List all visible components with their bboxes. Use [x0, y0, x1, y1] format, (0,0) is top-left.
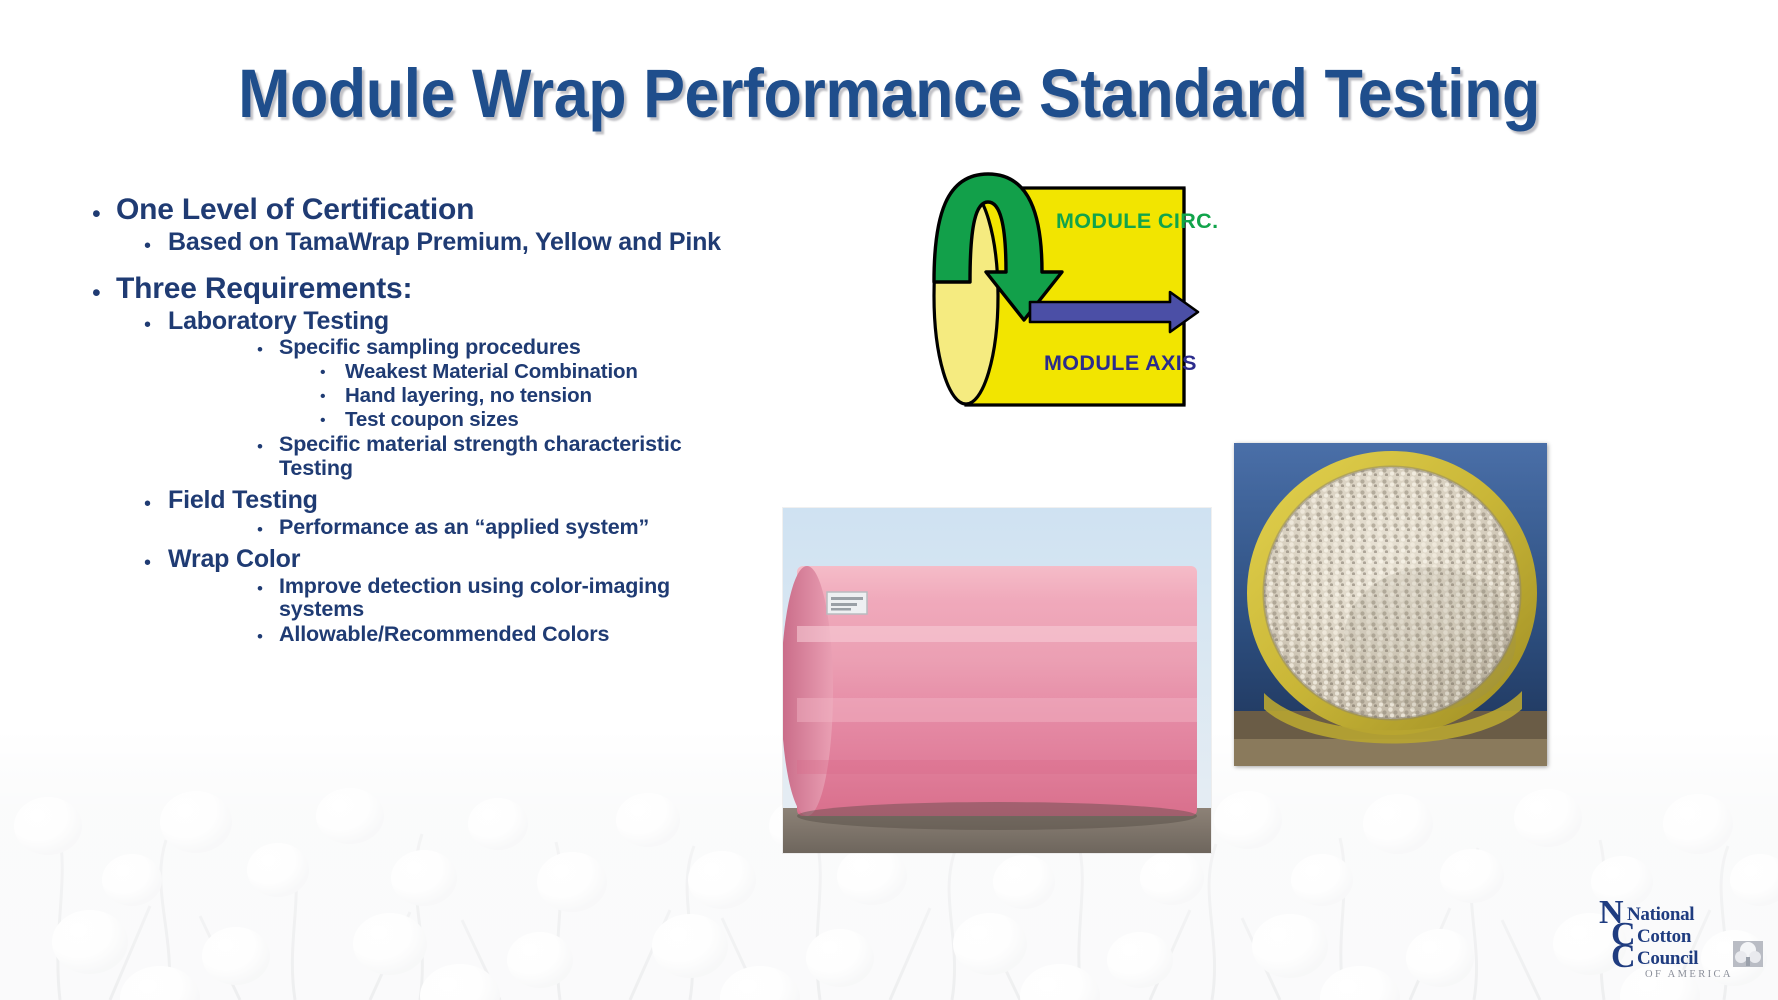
- list-item-label: Specific material strength characteristi…: [279, 433, 752, 480]
- bullet-list: • One Level of Certification • Based on …: [92, 193, 752, 648]
- list-item: • Field Testing: [144, 487, 752, 515]
- list-item-label: Field Testing: [168, 487, 318, 515]
- bullet-dot-icon: •: [257, 516, 279, 538]
- module-axis-label: MODULE AXIS: [1044, 351, 1197, 375]
- logo-line-2: Cotton: [1637, 926, 1692, 947]
- list-item-label: Performance as an “applied system”: [279, 516, 649, 540]
- list-item-label: Three Requirements:: [116, 272, 412, 306]
- list-item: • Three Requirements:: [92, 272, 752, 306]
- bullet-dot-icon: •: [320, 385, 345, 405]
- bullet-dot-icon: •: [144, 546, 168, 573]
- list-item: • Based on TamaWrap Premium, Yellow and …: [144, 229, 752, 257]
- list-item-label: Hand layering, no tension: [345, 385, 592, 408]
- list-item: • Specific material strength characteris…: [257, 433, 752, 480]
- list-item-label: Allowable/Recommended Colors: [279, 623, 609, 647]
- bullet-dot-icon: •: [257, 623, 279, 645]
- logo-line-3: Council: [1637, 948, 1698, 969]
- list-item: • Wrap Color: [144, 546, 752, 574]
- bullet-dot-icon: •: [320, 361, 345, 381]
- logo-tagline: OF AMERICA: [1645, 969, 1733, 979]
- cotton-boll-icon: [1733, 941, 1763, 967]
- bullet-dot-icon: •: [257, 433, 279, 455]
- list-item: • Test coupon sizes: [320, 409, 752, 432]
- list-item: • Allowable/Recommended Colors: [257, 623, 752, 647]
- list-item: • Performance as an “applied system”: [257, 516, 752, 540]
- list-item: • Laboratory Testing: [144, 308, 752, 336]
- bullet-dot-icon: •: [257, 336, 279, 358]
- bullet-dot-icon: •: [92, 193, 116, 227]
- list-item-label: Based on TamaWrap Premium, Yellow and Pi…: [168, 229, 721, 257]
- bullet-dot-icon: •: [144, 308, 168, 335]
- list-item: • Improve detection using color-imaging …: [257, 575, 752, 622]
- page-title: Module Wrap Performance Standard Testing: [80, 54, 1698, 133]
- list-item: • One Level of Certification: [92, 193, 752, 227]
- bullet-dot-icon: •: [257, 575, 279, 597]
- logo-line-1: National: [1627, 904, 1694, 925]
- bullet-dot-icon: •: [144, 229, 168, 256]
- list-item-label: Improve detection using color-imaging sy…: [279, 575, 752, 622]
- bullet-dot-icon: •: [144, 487, 168, 514]
- bullet-dot-icon: •: [92, 272, 116, 306]
- list-item: • Specific sampling procedures: [257, 336, 752, 360]
- national-cotton-council-logo: N National C Cotton C Council OF AMERICA: [1597, 895, 1769, 979]
- module-circ-label: MODULE CIRC.: [1056, 209, 1218, 233]
- list-item-label: Laboratory Testing: [168, 308, 389, 336]
- list-item-label: Weakest Material Combination: [345, 361, 638, 384]
- list-item-label: Test coupon sizes: [345, 409, 519, 432]
- logo-initial-c2: C: [1611, 938, 1636, 975]
- list-item-label: Wrap Color: [168, 546, 300, 574]
- list-item-label: One Level of Certification: [116, 193, 474, 227]
- list-item: • Hand layering, no tension: [320, 385, 752, 408]
- module-face-photo: [1234, 443, 1547, 766]
- module-orientation-diagram: MODULE CIRC. MODULE AXIS: [926, 160, 1226, 410]
- list-item: • Weakest Material Combination: [320, 361, 752, 384]
- wrapped-cotton-module-photo: [783, 508, 1211, 853]
- list-item-label: Specific sampling procedures: [279, 336, 581, 360]
- bullet-dot-icon: •: [320, 409, 345, 429]
